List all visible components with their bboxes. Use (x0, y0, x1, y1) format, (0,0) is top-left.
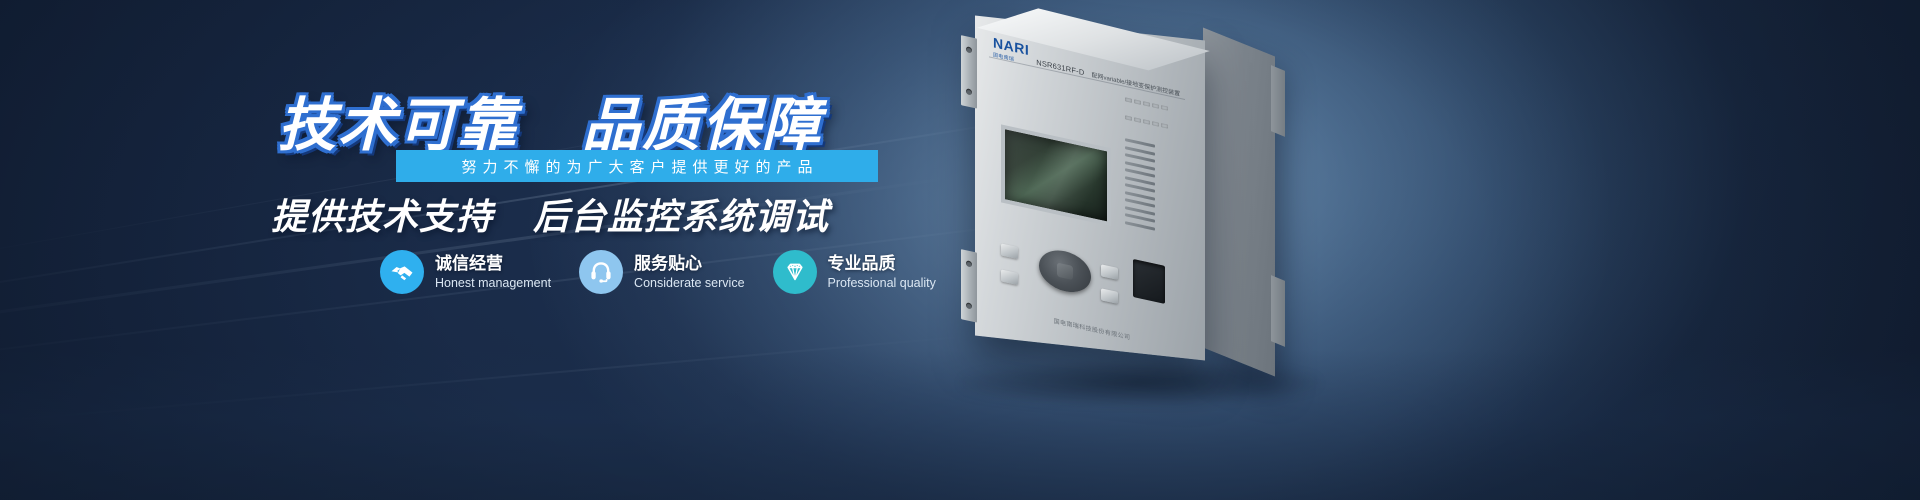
promo-banner: 技术可靠 品质保障 努力不懈的为广大客户提供更好的产品 提供技术支持 后台监控系… (0, 0, 1920, 500)
feature-title-en: Considerate service (634, 276, 744, 290)
device-button-left-top[interactable] (1001, 243, 1018, 259)
led-indicator (1134, 99, 1141, 105)
led-indicator (1161, 123, 1168, 129)
feature-title-cn: 服务贴心 (634, 254, 744, 273)
device-vent-grille (1125, 138, 1155, 231)
diamond-icon (773, 250, 817, 294)
led-indicator (1143, 101, 1150, 107)
feature-text: 服务贴心 Considerate service (634, 254, 744, 290)
device-front-panel: NARI 国电南瑞 NSR631RF-D 配网variable/接地变保护测控装… (975, 16, 1205, 361)
subtitle-bar: 努力不懈的为广大客户提供更好的产品 (396, 150, 878, 182)
feature-item-professional-quality: 专业品质 Professional quality (773, 250, 936, 294)
feature-item-honest-management: 诚信经营 Honest management (380, 250, 551, 294)
device-lcd-screen (1001, 124, 1111, 226)
led-indicator (1152, 103, 1159, 109)
mount-hole (966, 302, 972, 309)
product-device-nari-relay: NARI 国电南瑞 NSR631RF-D 配网variable/接地变保护测控装… (975, 28, 1275, 373)
headset-icon (579, 250, 623, 294)
led-indicator (1125, 97, 1132, 103)
headline-primary-part1: 技术可靠 (278, 93, 518, 158)
handshake-icon (380, 250, 424, 294)
subtitle-text: 努力不懈的为广大客户提供更好的产品 (455, 156, 818, 177)
device-button-left-bottom[interactable] (1001, 269, 1018, 285)
banner-content: 技术可靠 品质保障 努力不懈的为广大客户提供更好的产品 提供技术支持 后台监控系… (0, 0, 1920, 500)
headline-secondary: 提供技术支持 后台监控系统调试 (0, 188, 1100, 240)
feature-title-en: Professional quality (828, 276, 936, 290)
feature-text: 专业品质 Professional quality (828, 254, 936, 290)
headline-secondary-part1: 提供技术支持 (271, 196, 493, 237)
device-manufacturer-mark: 国电南瑞科技股份有限公司 (1017, 308, 1167, 350)
device-mount-bracket (961, 35, 977, 108)
device-rear-mount (1271, 65, 1285, 137)
feature-list: 诚信经营 Honest management 服务贴心 Cons (380, 250, 900, 294)
mount-hole (966, 46, 972, 53)
mount-hole (966, 88, 972, 95)
led-indicator (1161, 105, 1168, 111)
device-led-array (1125, 91, 1171, 137)
feature-title-cn: 诚信经营 (435, 254, 551, 273)
device-navigation-pad[interactable] (1039, 246, 1091, 297)
device-communication-port (1133, 259, 1165, 304)
device-mount-bracket (961, 249, 977, 322)
feature-title-en: Honest management (435, 276, 551, 290)
feature-title-cn: 专业品质 (828, 254, 936, 273)
led-indicator (1125, 115, 1132, 121)
feature-text: 诚信经营 Honest management (435, 254, 551, 290)
led-indicator (1134, 117, 1141, 123)
headline-primary-part2: 品质保障 (582, 93, 822, 158)
vent-slot (1125, 221, 1155, 231)
device-button-right-bottom[interactable] (1101, 288, 1118, 304)
feature-item-considerate-service: 服务贴心 Considerate service (579, 250, 744, 294)
device-rear-mount (1271, 275, 1285, 347)
headline-secondary-part2: 后台监控系统调试 (533, 196, 829, 237)
mount-hole (966, 260, 972, 267)
device-button-right-top[interactable] (1101, 264, 1118, 280)
device-side-panel (1203, 27, 1275, 376)
led-indicator (1143, 119, 1150, 125)
led-indicator (1152, 121, 1159, 127)
